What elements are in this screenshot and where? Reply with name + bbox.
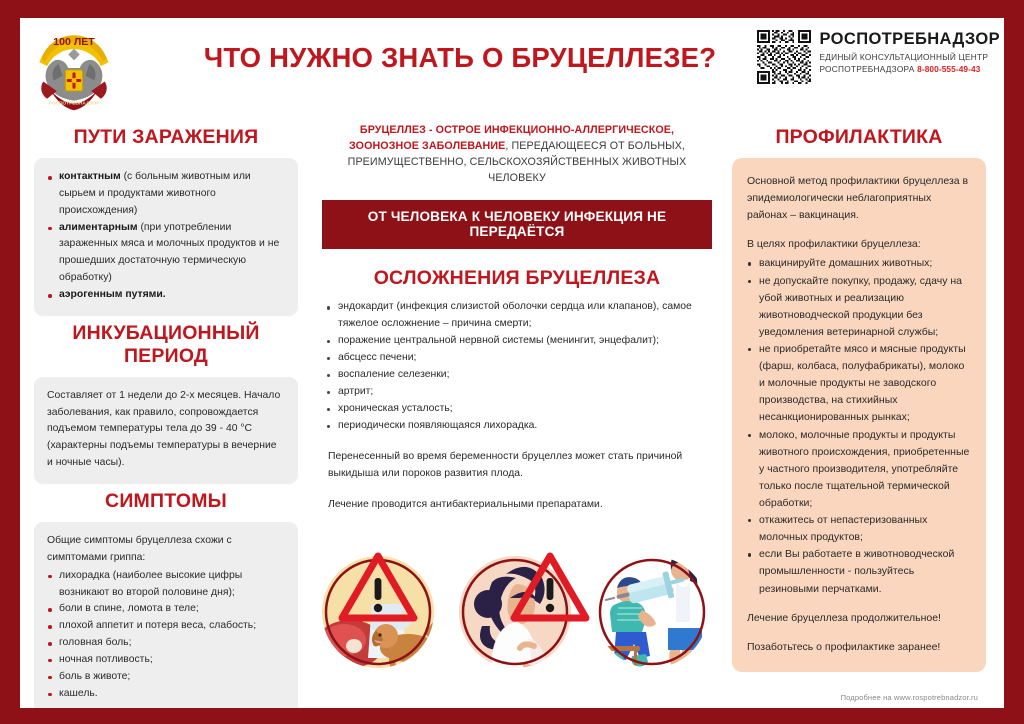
poster-sheet: 100 ЛЕТ РОСПОТРЕБНАДЗОР ЧТО НУЖНО ЗНАТЬ … <box>20 18 1004 708</box>
list-item: молоко, молочные продукты и продукты жив… <box>747 427 972 513</box>
brand-subtitle-line2: РОСПОТРЕБНАДЗОРА 8-800-555-49-43 <box>819 64 1000 75</box>
spacer <box>747 224 972 236</box>
illustration-vaccination <box>596 552 708 674</box>
symptoms-heading: СИМПТОМЫ <box>34 490 298 513</box>
list-item: поражение центральной нервной системы (м… <box>326 333 714 350</box>
prevention-list-title: В целях профилактики бруцеллеза: <box>747 236 972 253</box>
treatment-note: Лечение проводится антибактериальными пр… <box>328 497 712 514</box>
symptoms-intro: Общие симптомы бруцеллеза схожи с симпто… <box>47 533 285 567</box>
transmission-item-2-bold: аэрогенным путями. <box>59 289 166 300</box>
page-title: ЧТО НУЖНО ЗНАТЬ О БРУЦЕЛЛЕЗЕ? <box>170 44 750 73</box>
pregnancy-note: Перенесенный во время беременности бруце… <box>328 449 712 483</box>
list-item: лихорадка (наиболее высокие цифры возник… <box>47 568 285 602</box>
prevention-list: вакцинируйте домашних животных; не допус… <box>747 255 972 597</box>
poster-columns: ПУТИ ЗАРАЖЕНИЯ контактным (с больным жив… <box>20 116 1004 708</box>
spacer <box>747 598 972 610</box>
spacer <box>747 627 972 639</box>
symptoms-list: лихорадка (наиболее высокие цифры возник… <box>47 568 285 703</box>
transmission-item-1-bold: алиментарным <box>59 222 138 233</box>
prevention-heading: ПРОФИЛАКТИКА <box>732 126 986 149</box>
list-item: периодически появляющаяся лихорадка. <box>326 418 714 435</box>
disease-definition: БРУЦЕЛЛЕЗ - ОСТРОЕ ИНФЕКЦИОННО-АЛЛЕРГИЧЕ… <box>318 120 716 186</box>
prevention-panel: Основной метод профилактики бруцеллеза в… <box>732 158 986 672</box>
incubation-panel: Составляет от 1 недели до 2-х месяцев. Н… <box>34 377 298 484</box>
prevention-intro: Основной метод профилактики бруцеллеза в… <box>747 173 972 224</box>
complications-list: эндокардит (инфекция слизистой оболочки … <box>326 299 714 435</box>
incubation-text: Составляет от 1 недели до 2-х месяцев. Н… <box>47 388 285 472</box>
list-item: вакцинируйте домашних животных; <box>747 255 972 272</box>
list-item: ночная потливость; <box>47 652 285 669</box>
list-item: контактным (с больным животным или сырье… <box>47 169 285 220</box>
list-item: откажитесь от непастеризованных молочных… <box>747 512 972 546</box>
transmission-panel: контактным (с больным животным или сырье… <box>34 158 298 316</box>
hotline-phone[interactable]: 8-800-555-49-43 <box>917 64 980 74</box>
list-item: алиментарным (при употреблении зараженны… <box>47 220 285 287</box>
list-item: если Вы работаете в животноводческой про… <box>747 546 972 597</box>
complications-heading: ОСЛОЖНЕНИЯ БРУЦЕЛЛЕЗА <box>318 267 716 290</box>
list-item: абсцесс печени; <box>326 350 714 367</box>
list-item: хроническая усталость; <box>326 401 714 418</box>
rospotrebnadzor-emblem-icon: 100 ЛЕТ РОСПОТРЕБНАДЗОР <box>26 20 122 116</box>
transmission-item-0-bold: контактным <box>59 171 121 182</box>
treatment-duration-note: Лечение бруцеллеза продолжительное! <box>747 610 972 627</box>
brand-subtitle-line2-text: РОСПОТРЕБНАДЗОРА <box>819 64 914 74</box>
list-item: боли в спине, ломота в теле; <box>47 601 285 618</box>
column-left: ПУТИ ЗАРАЖЕНИЯ контактным (с больным жив… <box>20 116 308 708</box>
poster-frame: 100 ЛЕТ РОСПОТРЕБНАДЗОР ЧТО НУЖНО ЗНАТЬ … <box>0 0 1024 724</box>
svg-text:РОСПОТРЕБНАДЗОР: РОСПОТРЕБНАДЗОР <box>49 100 100 106</box>
brand-subtitle-line1: ЕДИНЫЙ КОНСУЛЬТАЦИОННЫЙ ЦЕНТР <box>819 52 1000 63</box>
transmission-heading: ПУТИ ЗАРАЖЕНИЯ <box>34 126 298 149</box>
illustration-pregnant-woman <box>459 556 586 686</box>
list-item: плохой аппетит и потеря веса, слабость; <box>47 618 285 635</box>
svg-text:100 ЛЕТ: 100 ЛЕТ <box>53 36 95 48</box>
list-item: артрит; <box>326 384 714 401</box>
list-item: не допускайте покупку, продажу, сдачу на… <box>747 273 972 341</box>
list-item: не приобретайте мясо и мясные продукты (… <box>747 341 972 427</box>
illustration-group <box>310 534 722 686</box>
list-item: аэрогенным путями. <box>47 287 285 304</box>
list-item: эндокардит (инфекция слизистой оболочки … <box>326 299 714 333</box>
no-human-transmission-banner: ОТ ЧЕЛОВЕКА К ЧЕЛОВЕКУ ИНФЕКЦИЯ НЕ ПЕРЕД… <box>322 200 712 249</box>
list-item: боль в животе; <box>47 669 285 686</box>
illustration-meat-milk-dog <box>316 556 439 674</box>
qr-code-icon[interactable] <box>757 30 811 84</box>
poster-header: 100 ЛЕТ РОСПОТРЕБНАДЗОР ЧТО НУЖНО ЗНАТЬ … <box>20 18 1004 116</box>
brand-text: РОСПОТРЕБНАДЗОР ЕДИНЫЙ КОНСУЛЬТАЦИОННЫЙ … <box>819 30 1000 75</box>
column-right: ПРОФИЛАКТИКА Основной метод профилактики… <box>724 116 1000 708</box>
column-middle: БРУЦЕЛЛЕЗ - ОСТРОЕ ИНФЕКЦИОННО-АЛЛЕРГИЧЕ… <box>308 116 724 708</box>
prevention-call-to-action: Позаботьтесь о профилактике заранее! <box>747 639 972 656</box>
symptoms-panel: Общие симптомы бруцеллеза схожи с симпто… <box>34 522 298 708</box>
brand-subtitle: ЕДИНЫЙ КОНСУЛЬТАЦИОННЫЙ ЦЕНТР РОСПОТРЕБН… <box>819 52 1000 74</box>
list-item: воспаление селезенки; <box>326 367 714 384</box>
transmission-list: контактным (с больным животным или сырье… <box>47 169 285 304</box>
footer-note[interactable]: Подробнее на www.rospotrebnadzor.ru <box>841 693 978 702</box>
list-item: головная боль; <box>47 635 285 652</box>
incubation-heading: ИНКУБАЦИОННЫЙ ПЕРИОД <box>34 322 298 368</box>
list-item: кашель. <box>47 686 285 703</box>
brand-block: РОСПОТРЕБНАДЗОР ЕДИНЫЙ КОНСУЛЬТАЦИОННЫЙ … <box>757 30 1000 84</box>
brand-name: РОСПОТРЕБНАДЗОР <box>819 31 1000 48</box>
